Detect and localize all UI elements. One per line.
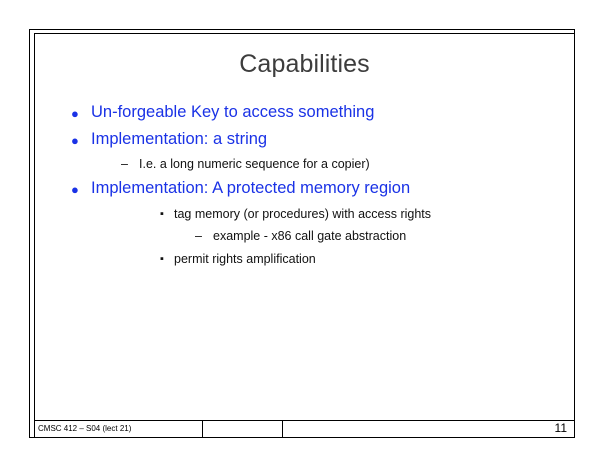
page-title: Capabilities xyxy=(40,49,569,79)
footer-rule-top xyxy=(34,420,575,421)
outline-item: ▪ tag memory (or procedures) with access… xyxy=(34,204,575,227)
outline-item: ● Implementation: A protected memory reg… xyxy=(34,177,575,204)
page-number: 11 xyxy=(555,421,567,436)
outline-item: ● Un-forgeable Key to access something xyxy=(34,101,575,128)
outline-item-label: Implementation: a string xyxy=(91,128,267,151)
outline-item-label: Implementation: A protected memory regio… xyxy=(91,177,410,200)
round-bullet-icon: ● xyxy=(71,129,79,152)
outline-item: ▪ permit rights amplification xyxy=(34,249,575,272)
footer-course-label: CMSC 412 – S04 (lect 21) xyxy=(38,422,131,435)
dash-bullet-icon: – xyxy=(121,155,128,174)
outline-item: – example - x86 call gate abstraction xyxy=(34,227,575,249)
square-bullet-icon: ▪ xyxy=(160,204,164,224)
outline-item-label: tag memory (or procedures) with access r… xyxy=(174,204,431,224)
outline-item-label: permit rights amplification xyxy=(174,249,316,269)
footer-divider xyxy=(282,420,283,438)
slide-body-outline: ● Un-forgeable Key to access something ●… xyxy=(34,101,575,272)
outline-item-label: Un-forgeable Key to access something xyxy=(91,101,374,124)
slide-footer: CMSC 412 – S04 (lect 21) 11 xyxy=(34,420,575,438)
footer-rule-bottom xyxy=(34,437,575,438)
outline-item: – I.e. a long numeric sequence for a cop… xyxy=(34,155,575,177)
outline-item-label: I.e. a long numeric sequence for a copie… xyxy=(139,155,370,174)
footer-divider xyxy=(202,420,203,438)
square-bullet-icon: ▪ xyxy=(160,249,164,269)
outline-item-label: example - x86 call gate abstraction xyxy=(213,227,406,246)
outline-item: ● Implementation: a string xyxy=(34,128,575,155)
round-bullet-icon: ● xyxy=(71,178,79,201)
round-bullet-icon: ● xyxy=(71,102,79,125)
dash-bullet-icon: – xyxy=(195,227,202,246)
presentation-slide: Capabilities ● Un-forgeable Key to acces… xyxy=(0,0,605,467)
